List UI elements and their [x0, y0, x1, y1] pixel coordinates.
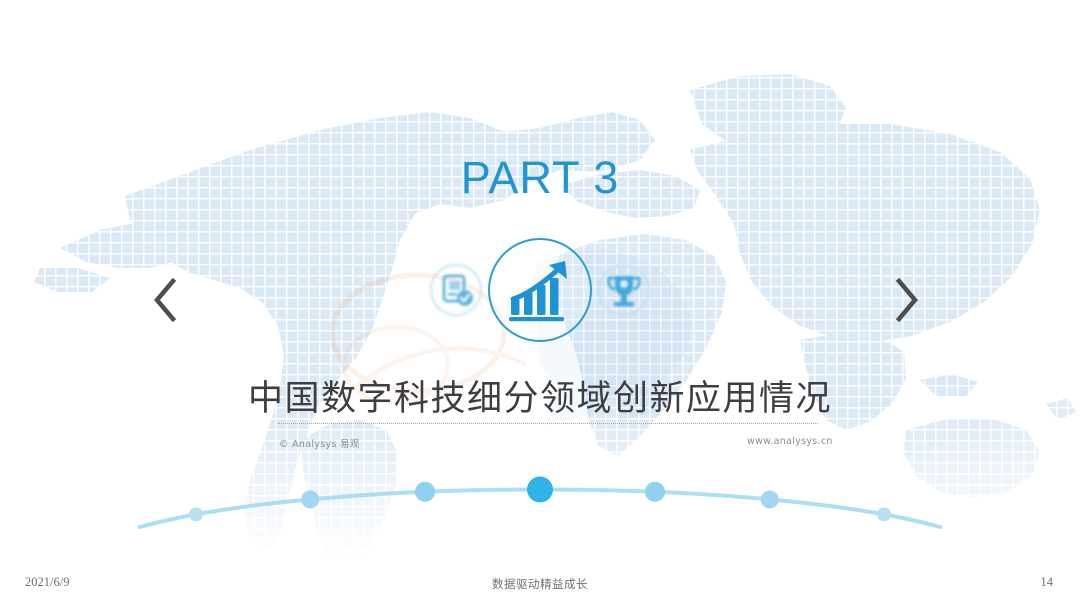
progress-dot-2[interactable] [301, 490, 319, 508]
part-label: PART 3 [0, 152, 1080, 204]
document-check-icon[interactable] [428, 262, 484, 318]
footer-tagline: 数据驱动精益成长 [0, 576, 1080, 592]
progress-dot-7[interactable] [877, 507, 891, 521]
progress-dot-3[interactable] [415, 482, 435, 502]
trophy-icon[interactable] [596, 262, 652, 318]
title-divider [278, 423, 818, 424]
copyright-credit: © Analysys 易观 [279, 436, 360, 450]
bar-chart-growth-icon[interactable] [488, 238, 592, 342]
progress-dot-5[interactable] [645, 482, 665, 502]
progress-dot-6[interactable] [761, 490, 779, 508]
progress-dot-1[interactable] [189, 507, 203, 521]
website-url: www.analysys.cn [747, 436, 833, 447]
slide-footer: 2021/6/9 数据驱动精益成长 14 [0, 562, 1080, 608]
footer-page-number: 14 [1041, 575, 1054, 590]
page-title: 中国数字科技细分领域创新应用情况 [0, 370, 1080, 421]
icon-carousel [0, 238, 1080, 342]
slide-canvas: PART 3 [0, 0, 1080, 608]
progress-dot-4[interactable] [527, 477, 553, 503]
